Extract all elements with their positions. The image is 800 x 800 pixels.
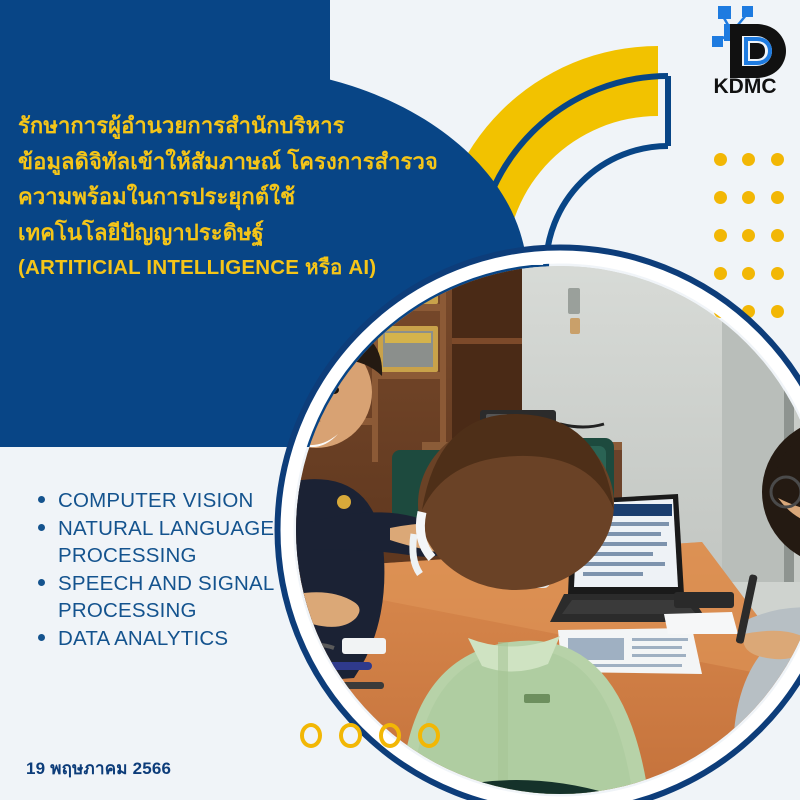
grid-dot	[742, 191, 755, 204]
headline-line-1: รักษาการผู้อำนวยการสำนักบริหาร	[18, 108, 418, 144]
list-item: NATURAL LANGUAGE PROCESSING	[30, 515, 330, 569]
date-label: 19 พฤษภาคม 2566	[26, 755, 171, 782]
grid-dot	[742, 153, 755, 166]
list-item: SPEECH AND SIGNAL PROCESSING	[30, 570, 330, 624]
ring-circle	[379, 723, 401, 748]
poster-canvas: รักษาการผู้อำนวยการสำนักบริหาร ข้อมูลดิจ…	[0, 0, 800, 800]
topic-list: COMPUTER VISION NATURAL LANGUAGE PROCESS…	[30, 487, 330, 653]
headline-line-en: (ARTITICIAL INTELLIGENCE หรือ AI)	[18, 251, 418, 284]
list-item: DATA ANALYTICS	[30, 625, 330, 652]
ring-decoration	[300, 723, 440, 753]
kdmc-logo: KDMC	[702, 2, 788, 94]
ring-circle	[339, 723, 361, 748]
headline-line-2: ข้อมูลดิจิทัลเข้าให้สัมภาษณ์ โครงการสำรว…	[18, 144, 418, 180]
ring-circle	[418, 723, 440, 748]
ring-circle	[300, 723, 322, 748]
headline-text: รักษาการผู้อำนวยการสำนักบริหาร ข้อมูลดิจ…	[18, 108, 418, 284]
grid-dot	[771, 153, 784, 166]
grid-dot	[714, 153, 727, 166]
logo-wordmark: KDMC	[714, 75, 777, 94]
grid-dot	[771, 229, 784, 242]
headline-line-3: ความพร้อมในการประยุกต์ใช้	[18, 179, 418, 215]
grid-dot	[771, 191, 784, 204]
headline-line-4: เทคโนโลยีปัญญาประดิษฐ์	[18, 215, 418, 251]
grid-dot	[714, 191, 727, 204]
grid-dot	[742, 229, 755, 242]
photo-circle	[272, 242, 800, 800]
grid-dot	[714, 229, 727, 242]
list-item: COMPUTER VISION	[30, 487, 330, 514]
